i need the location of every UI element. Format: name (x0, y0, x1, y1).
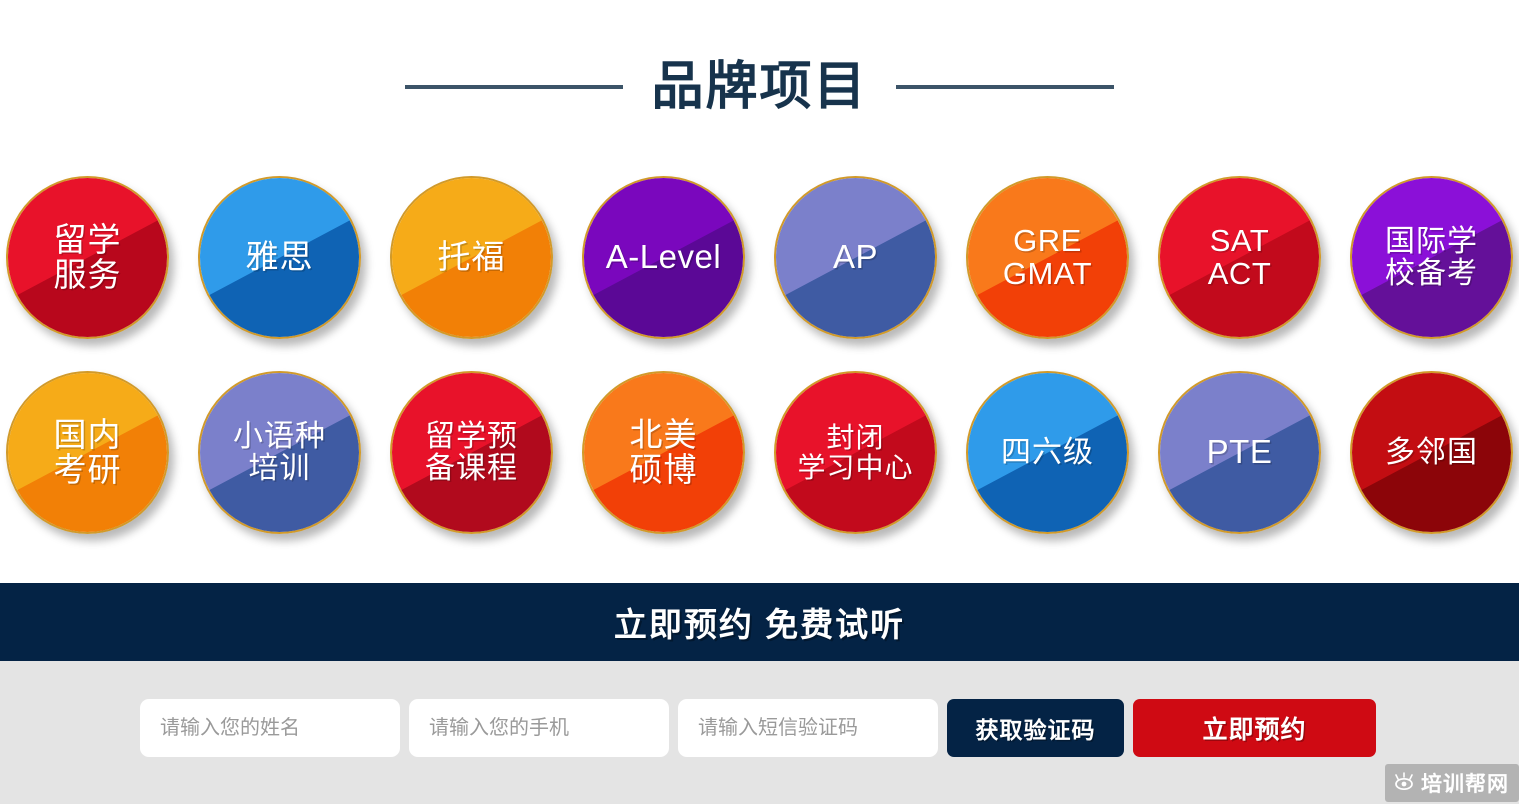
sms-code-input[interactable] (678, 699, 938, 757)
bubble-face (200, 178, 359, 337)
program-bubble-yubei-kecheng[interactable]: 留学预 备课程 (390, 371, 553, 534)
program-bubble-duolingguo[interactable]: 多邻国 (1350, 371, 1513, 534)
program-bubble-a-level[interactable]: A-Level (582, 176, 745, 339)
program-bubble-xiaoyuzhong[interactable]: 小语种 培训 (198, 371, 361, 534)
heading-rule-left (405, 85, 623, 89)
program-bubble-yasi[interactable]: 雅思 (198, 176, 361, 339)
program-bubble-beimei-shuobo[interactable]: 北美 硕博 (582, 371, 745, 534)
program-bubble-guoji-xuexiao[interactable]: 国际学 校备考 (1350, 176, 1513, 339)
program-bubble-ap[interactable]: AP (774, 176, 937, 339)
submit-booking-button[interactable]: 立即预约 (1133, 699, 1376, 757)
bubble-face (392, 373, 551, 532)
program-bubble-gre-gmat[interactable]: GRE GMAT (966, 176, 1129, 339)
bubble-face (584, 373, 743, 532)
bubble-face (1160, 373, 1319, 532)
bubble-face (8, 178, 167, 337)
bubble-face (584, 178, 743, 337)
program-row-1: 留学 服务雅思托福A-LevelAPGRE GMATSAT ACT国际学 校备考 (6, 160, 1513, 355)
bubble-face (1352, 178, 1511, 337)
program-grid: 留学 服务雅思托福A-LevelAPGRE GMATSAT ACT国际学 校备考… (0, 160, 1519, 550)
program-bubble-silujiji[interactable]: 四六级 (966, 371, 1129, 534)
heading-rule-right (896, 85, 1114, 89)
page-header: 品牌项目 (0, 0, 1519, 160)
bubble-face (776, 178, 935, 337)
bubble-face (8, 373, 167, 532)
bubble-face (1352, 373, 1511, 532)
program-bubble-sat-act[interactable]: SAT ACT (1158, 176, 1321, 339)
cta-banner-text: 立即预约 免费试听 (614, 598, 905, 646)
bubble-face (968, 373, 1127, 532)
phone-input[interactable] (409, 699, 669, 757)
cta-banner: 立即预约 免费试听 (0, 583, 1519, 661)
program-bubble-pte[interactable]: PTE (1158, 371, 1321, 534)
get-verification-code-button[interactable]: 获取验证码 (947, 699, 1124, 757)
watermark-text: 培训帮网 (1421, 768, 1509, 798)
site-watermark: 培训帮网 (1385, 764, 1519, 802)
program-bubble-fengbi-zhongxin[interactable]: 封闭 学习中心 (774, 371, 937, 534)
bubble-face (1160, 178, 1319, 337)
program-bubble-liuxue-fuwu[interactable]: 留学 服务 (6, 176, 169, 339)
program-bubble-tuofu[interactable]: 托福 (390, 176, 553, 339)
booking-form-strip: 获取验证码 立即预约 培训帮网 (0, 661, 1519, 804)
program-bubble-guonei-kaoyan[interactable]: 国内 考研 (6, 371, 169, 534)
page-title: 品牌项目 (651, 61, 867, 113)
program-row-2: 国内 考研小语种 培训留学预 备课程北美 硕博封闭 学习中心四六级PTE多邻国 (6, 355, 1513, 550)
bubble-face (392, 178, 551, 337)
bubble-face (968, 178, 1127, 337)
sun-eye-icon (1393, 771, 1415, 796)
bubble-face (200, 373, 359, 532)
booking-form: 获取验证码 立即预约 (140, 699, 1376, 757)
bubble-face (776, 373, 935, 532)
name-input[interactable] (140, 699, 400, 757)
